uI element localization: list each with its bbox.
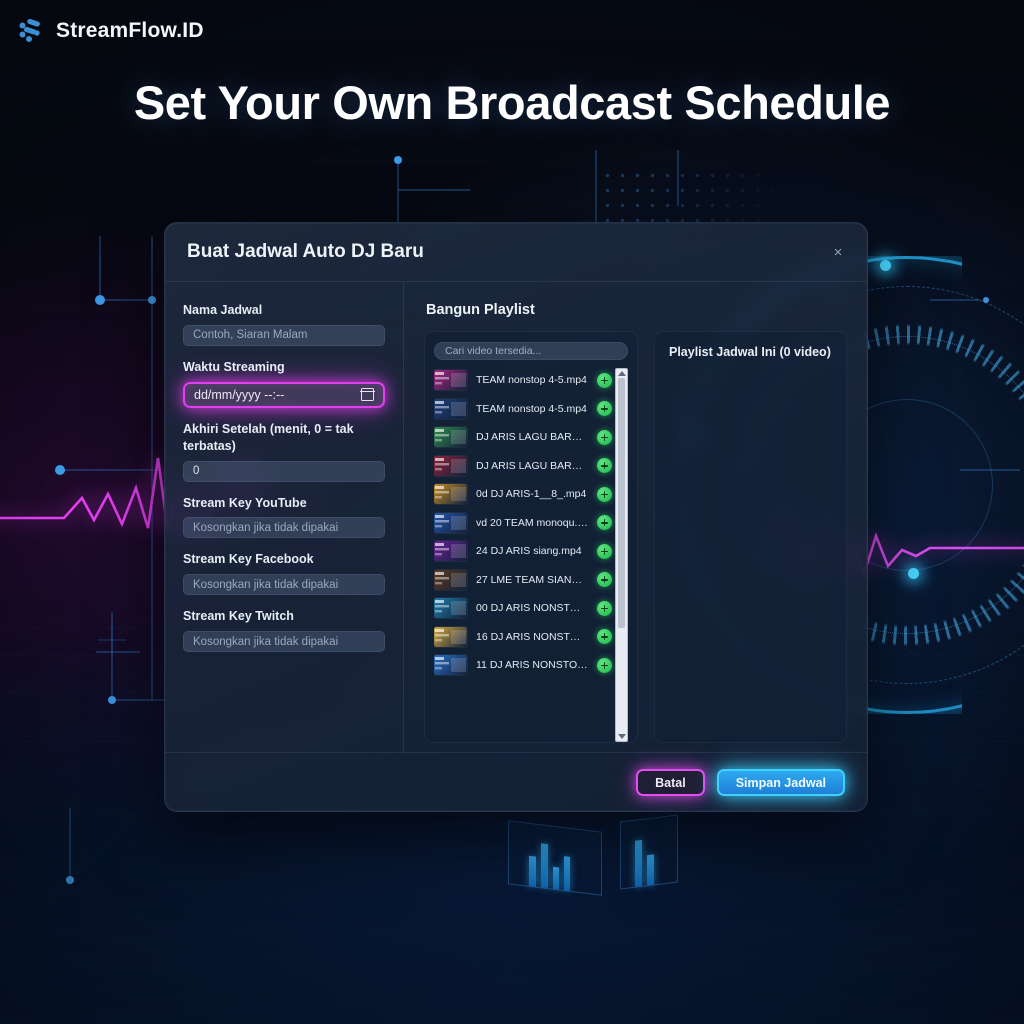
video-title: TEAM nonstop 4-5.mp4 — [476, 403, 588, 415]
video-thumbnail — [434, 655, 467, 675]
selected-playlist-title: Playlist Jadwal Ini (0 video) — [669, 345, 832, 359]
scroll-up-icon[interactable] — [618, 371, 626, 376]
video-list-item[interactable]: 16 DJ ARIS NONSTOP-1.mp4 — [434, 623, 612, 652]
save-schedule-button[interactable]: Simpan Jadwal — [717, 769, 845, 796]
add-video-icon[interactable] — [597, 401, 612, 416]
add-video-icon[interactable] — [597, 515, 612, 530]
video-title: 16 DJ ARIS NONSTOP-1.mp4 — [476, 631, 588, 643]
youtube-key-input[interactable]: Kosongkan jika tidak dipakai — [183, 517, 385, 538]
modal-header: Buat Jadwal Auto DJ Baru × — [165, 223, 867, 282]
facebook-key-input[interactable]: Kosongkan jika tidak dipakai — [183, 574, 385, 595]
brand-logo[interactable]: StreamFlow.ID — [18, 18, 204, 44]
video-title: DJ ARIS LAGU BARU-5.mp4 — [476, 460, 588, 472]
app-screenshot: StreamFlow.ID Set Your Own Broadcast Sch… — [0, 0, 1024, 1024]
available-videos-panel: Cari video tersedia... TEAM nonstop 4-5.… — [424, 331, 638, 743]
facebook-key-label: Stream Key Facebook — [183, 551, 385, 568]
video-title: vd 20 TEAM monoqu.mp4 — [476, 517, 588, 529]
video-title: 24 DJ ARIS siang.mp4 — [476, 545, 588, 557]
modal-title: Buat Jadwal Auto DJ Baru — [187, 241, 424, 263]
cluster-dots-logo-icon — [18, 18, 44, 44]
youtube-key-label: Stream Key YouTube — [183, 495, 385, 512]
video-list-item[interactable]: 11 DJ ARIS NONSTOP.mp4 — [434, 651, 612, 680]
video-title: 27 LME TEAM SIANG.mp4 — [476, 574, 588, 586]
video-title: 11 DJ ARIS NONSTOP.mp4 — [476, 659, 588, 671]
calendar-icon[interactable] — [361, 388, 374, 401]
name-label: Nama Jadwal — [183, 302, 385, 319]
twitch-key-input[interactable]: Kosongkan jika tidak dipakai — [183, 631, 385, 652]
scrollbar-thumb[interactable] — [618, 378, 625, 628]
datetime-value: dd/mm/yyyy --:-- — [194, 388, 284, 402]
available-videos-list[interactable]: TEAM nonstop 4-5.mp4TEAM nonstop 4-5.mp4… — [434, 366, 628, 736]
playlist-section-title: Bangun Playlist — [426, 302, 847, 318]
create-schedule-modal: Buat Jadwal Auto DJ Baru × Nama Jadwal C… — [164, 222, 868, 812]
video-thumbnail — [434, 484, 467, 504]
scroll-down-icon[interactable] — [618, 734, 626, 739]
twitch-key-label: Stream Key Twitch — [183, 608, 385, 625]
brand-name: StreamFlow.ID — [56, 19, 204, 43]
add-video-icon[interactable] — [597, 430, 612, 445]
video-title: TEAM nonstop 4-5.mp4 — [476, 374, 588, 386]
time-label: Waktu Streaming — [183, 359, 385, 376]
search-input[interactable]: Cari video tersedia... — [434, 342, 628, 360]
end-after-input[interactable]: 0 — [183, 461, 385, 482]
video-list-scrollbar[interactable] — [615, 368, 628, 742]
video-thumbnail — [434, 370, 467, 390]
video-title: 0d DJ ARIS-1__8_.mp4 — [476, 488, 588, 500]
video-list-item[interactable]: TEAM nonstop 4-5.mp4 — [434, 366, 612, 395]
page-title: Set Your Own Broadcast Schedule — [0, 75, 1024, 130]
video-title: 00 DJ ARIS NONSTOP.mp4 — [476, 602, 588, 614]
video-list-item[interactable]: 00 DJ ARIS NONSTOP.mp4 — [434, 594, 612, 623]
video-thumbnail — [434, 598, 467, 618]
video-thumbnail — [434, 570, 467, 590]
video-thumbnail — [434, 427, 467, 447]
video-title: DJ ARIS LAGU BARU-4.mp4 — [476, 431, 588, 443]
selected-playlist-panel[interactable]: Playlist Jadwal Ini (0 video) — [654, 331, 847, 743]
video-list-item[interactable]: TEAM nonstop 4-5.mp4 — [434, 395, 612, 424]
video-list-item[interactable]: DJ ARIS LAGU BARU-5.mp4 — [434, 452, 612, 481]
add-video-icon[interactable] — [597, 373, 612, 388]
video-list-item[interactable]: 27 LME TEAM SIANG.mp4 — [434, 566, 612, 595]
video-list-item[interactable]: DJ ARIS LAGU BARU-4.mp4 — [434, 423, 612, 452]
close-icon[interactable]: × — [827, 241, 849, 263]
video-list-item[interactable]: 0d DJ ARIS-1__8_.mp4 — [434, 480, 612, 509]
add-video-icon[interactable] — [597, 544, 612, 559]
add-video-icon[interactable] — [597, 458, 612, 473]
datetime-input[interactable]: dd/mm/yyyy --:-- — [183, 382, 385, 408]
add-video-icon[interactable] — [597, 601, 612, 616]
video-thumbnail — [434, 541, 467, 561]
add-video-icon[interactable] — [597, 658, 612, 673]
video-thumbnail — [434, 627, 467, 647]
video-thumbnail — [434, 456, 467, 476]
schedule-form-panel: Nama Jadwal Contoh, Siaran Malam Waktu S… — [165, 282, 403, 752]
video-list-item[interactable]: 24 DJ ARIS siang.mp4 — [434, 537, 612, 566]
add-video-icon[interactable] — [597, 572, 612, 587]
add-video-icon[interactable] — [597, 487, 612, 502]
modal-body: Nama Jadwal Contoh, Siaran Malam Waktu S… — [165, 282, 867, 752]
end-after-label: Akhiri Setelah (menit, 0 = tak terbatas) — [183, 421, 385, 455]
cancel-button[interactable]: Batal — [636, 769, 705, 796]
video-thumbnail — [434, 399, 467, 419]
add-video-icon[interactable] — [597, 629, 612, 644]
video-list-item[interactable]: vd 20 TEAM monoqu.mp4 — [434, 509, 612, 538]
name-input[interactable]: Contoh, Siaran Malam — [183, 325, 385, 346]
video-thumbnail — [434, 513, 467, 533]
modal-footer: Batal Simpan Jadwal — [165, 752, 867, 812]
playlist-builder-panel: Bangun Playlist Cari video tersedia... T… — [404, 282, 867, 752]
